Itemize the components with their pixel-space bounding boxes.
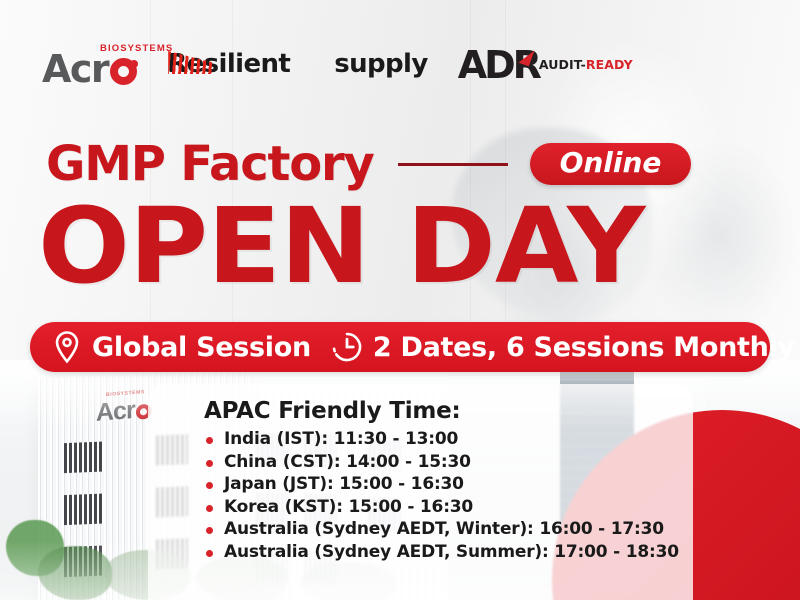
headline-divider-rule	[398, 163, 508, 166]
map-pin-icon	[52, 330, 82, 364]
sessions-count-label: 2 Dates, 6 Sessions Monthly	[373, 332, 795, 363]
apac-times-heading: APAC Friendly Time:	[204, 398, 693, 424]
partner-logos-row: BIOSYSTEMS Acr Resilient supply ADR AUDI…	[0, 30, 800, 100]
acro-logo-wordmark: Acr	[42, 53, 137, 86]
list-item: Korea (KST): 15:00 - 16:30	[204, 497, 693, 517]
list-item: Australia (Sydney AEDT, Summer): 17:00 -…	[204, 542, 693, 562]
promo-banner: BIOSYSTEMS Acr BIOSYSTEMS Acr	[0, 0, 800, 600]
apac-times-card: APAC Friendly Time: India (IST): 11:30 -…	[148, 384, 693, 600]
adr-logo-subtitle: AUDIT-READY	[539, 59, 633, 72]
headline-kicker-row: GMP Factory Online	[46, 140, 766, 188]
adr-audit-ready-logo: ADR AUDIT-READY	[458, 46, 633, 84]
list-item: Japan (JST): 15:00 - 16:30	[204, 474, 693, 494]
headline-kicker: GMP Factory	[46, 140, 374, 188]
list-item: China (CST): 14:00 - 15:30	[204, 452, 693, 472]
online-badge: Online	[530, 143, 692, 185]
acro-biosystems-logo: BIOSYSTEMS Acr	[42, 44, 137, 86]
acro-logo-o-ring-icon	[110, 58, 137, 85]
adr-subtitle-audit: AUDIT-	[539, 57, 586, 72]
global-session-label: Global Session	[92, 332, 311, 363]
clock-icon	[331, 331, 363, 363]
session-info-bar: Global Session 2 Dates, 6 Sessions Month…	[30, 322, 770, 372]
resilient-supply-logo: Resilient supply	[167, 53, 428, 77]
page-title: OPEN DAY	[38, 196, 800, 298]
adr-subtitle-ready: READY	[586, 57, 633, 72]
list-item: India (IST): 11:30 - 13:00	[204, 429, 693, 449]
resilient-supply-line2: supply	[290, 53, 427, 77]
acro-logo-tagline: BIOSYSTEMS	[100, 43, 173, 54]
apac-times-list: India (IST): 11:30 - 13:00 China (CST): …	[204, 429, 693, 562]
list-item: Australia (Sydney AEDT, Winter): 16:00 -…	[204, 519, 693, 539]
